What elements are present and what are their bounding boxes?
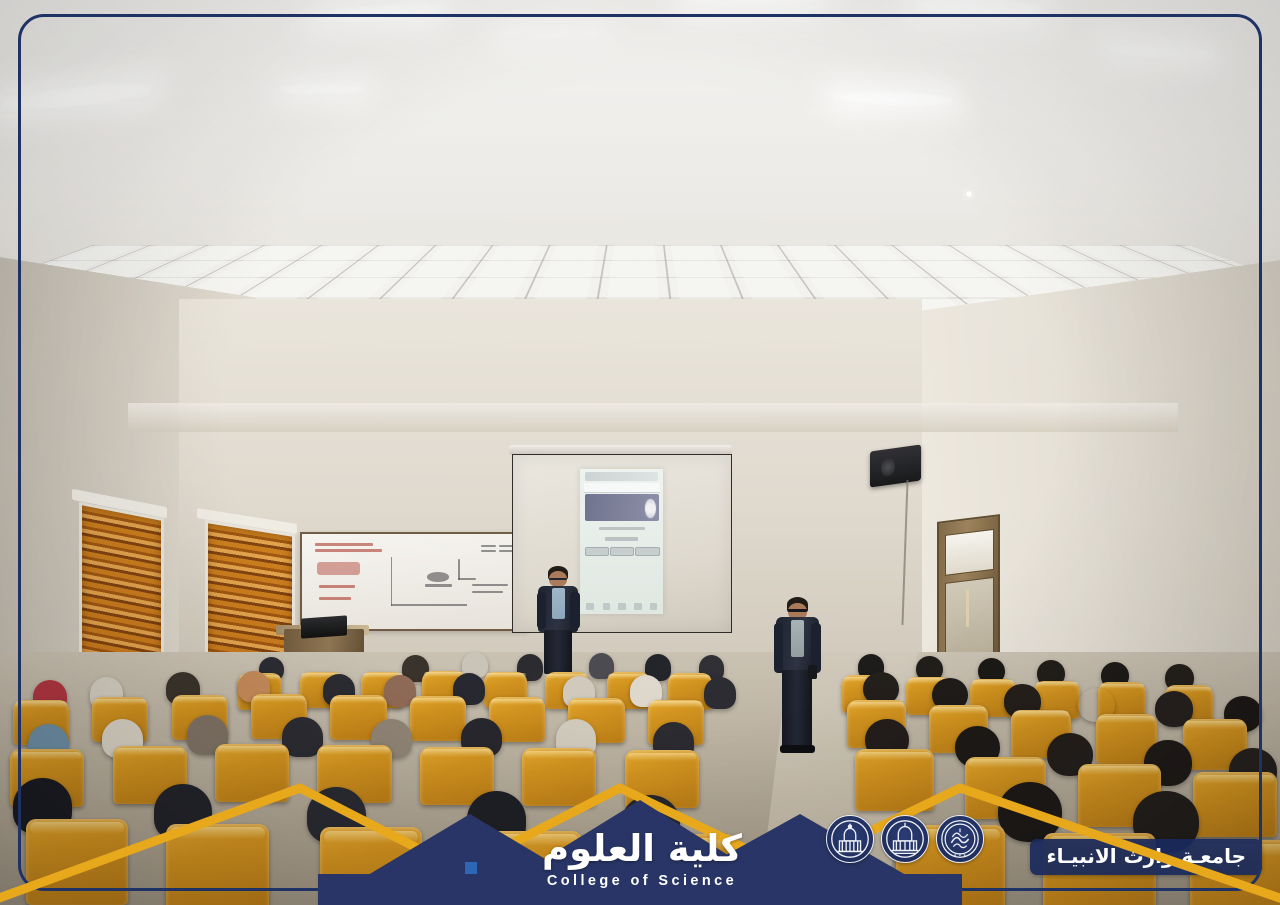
slide-app-bar xyxy=(584,483,660,493)
presenter-arm xyxy=(570,592,579,629)
presenter-shirt xyxy=(552,588,565,618)
shrine-emblem-1-icon xyxy=(826,815,874,863)
sunglasses-icon xyxy=(788,609,806,612)
ceiling-sensor xyxy=(965,190,973,198)
slide-action-button xyxy=(610,547,633,556)
ceiling-light-panel xyxy=(501,27,599,39)
presenter-arm xyxy=(537,592,546,629)
presenter-in-aisle xyxy=(771,597,825,751)
slide-action-button xyxy=(585,547,608,556)
podium-monitor xyxy=(301,616,347,639)
ceiling-light-panel xyxy=(1108,43,1215,62)
shrine-emblem-2-icon xyxy=(881,815,929,863)
speaker-cone xyxy=(882,457,895,477)
slide-nav-item xyxy=(650,603,657,610)
screenshot-root: كلية العلوم College of Science جامعـة وا… xyxy=(0,0,1280,905)
svg-text:✦ ✦ ✦: ✦ ✦ ✦ xyxy=(954,852,967,857)
ceiling-light-panel xyxy=(688,0,820,7)
university-seal-icon: ✦ ✦ ✦ xyxy=(936,815,984,863)
student-head xyxy=(704,677,736,709)
handheld-device xyxy=(808,665,817,679)
slide-text-line xyxy=(605,537,638,540)
ceiling-light-panel xyxy=(915,0,1041,18)
slide-nav-item xyxy=(603,603,610,610)
slide-action-button xyxy=(635,547,660,556)
slide-text-line xyxy=(599,527,645,530)
auditorium-seat xyxy=(410,696,466,741)
presenter-legs xyxy=(782,670,812,747)
ceiling-light-panel xyxy=(280,84,365,95)
projected-slide xyxy=(580,469,663,614)
slide-nav-item xyxy=(618,603,625,610)
bottom-banner xyxy=(0,770,1280,905)
logo-group: ✦ ✦ ✦ xyxy=(826,815,984,863)
window-blind-left xyxy=(79,502,164,677)
presenter-shirt xyxy=(791,620,804,657)
ceiling-soffit xyxy=(128,403,1178,432)
slide-status-bar xyxy=(585,472,658,481)
ceiling-light-panel xyxy=(313,1,442,26)
slide-nav-item xyxy=(586,603,593,610)
door-transom-glass xyxy=(945,528,994,575)
presenter-arm xyxy=(774,623,784,672)
ceiling-light-panel xyxy=(833,88,952,107)
presenter-legs xyxy=(544,630,572,675)
eyeglasses-icon xyxy=(549,578,566,580)
presenter-shoes xyxy=(780,745,814,753)
slide-seal-icon xyxy=(644,498,657,519)
door-handle[interactable] xyxy=(966,588,969,627)
slide-nav-item xyxy=(634,603,641,610)
wall-speaker xyxy=(870,444,921,487)
ceiling-light-panel xyxy=(0,78,152,114)
